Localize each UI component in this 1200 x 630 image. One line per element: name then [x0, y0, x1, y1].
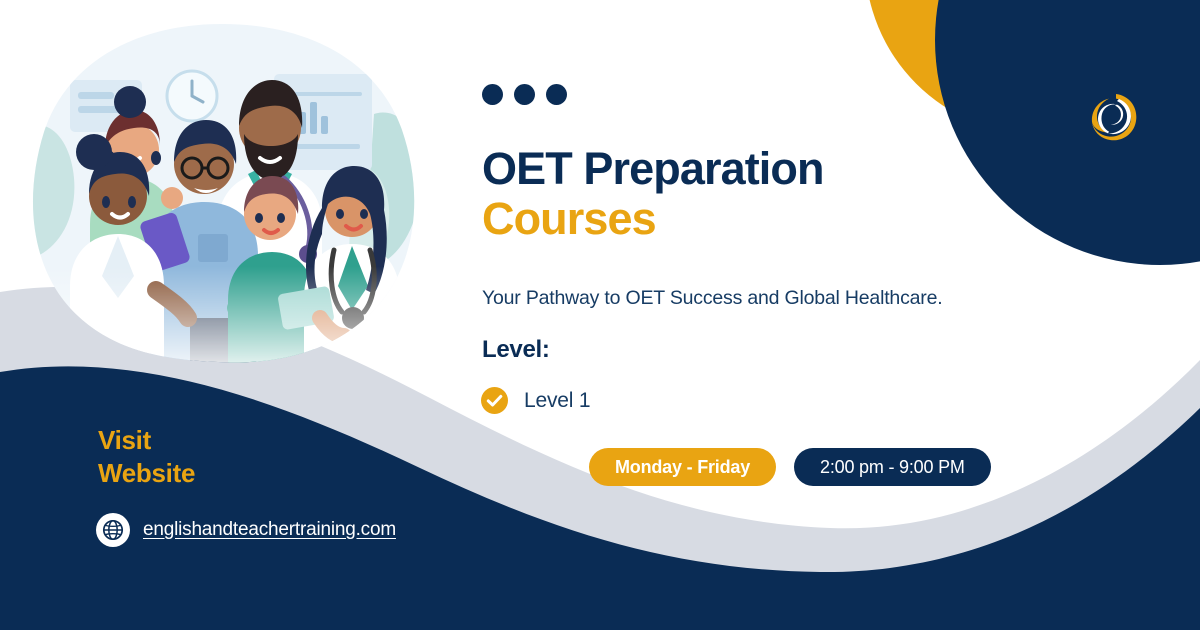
schedule-badges: Monday - Friday 2:00 pm - 9:00 PM: [589, 448, 991, 486]
page-title: OET Preparation Courses: [482, 144, 824, 245]
website-url[interactable]: englishandteachertraining.com: [143, 519, 396, 541]
website-link-row[interactable]: englishandteachertraining.com: [96, 513, 396, 547]
level-label: Level:: [482, 336, 550, 364]
dot-1: [482, 84, 503, 105]
level-item: Level 1: [481, 387, 590, 414]
dot-2: [514, 84, 535, 105]
cta-title-line-2: Website: [98, 458, 195, 488]
time-badge: 2:00 pm - 9:00 PM: [794, 448, 991, 486]
healthcare-team-illustration: [22, 18, 422, 363]
title-line-2: Courses: [482, 193, 656, 244]
cta-title: Visit Website: [98, 424, 195, 491]
check-circle-icon: [481, 387, 508, 414]
swirl-spiral-logo: [1086, 90, 1140, 144]
globe-icon: [96, 513, 130, 547]
three-dots-accent: [482, 84, 567, 105]
dot-3: [546, 84, 567, 105]
subtitle: Your Pathway to OET Success and Global H…: [482, 287, 942, 310]
poster-canvas: OET Preparation Courses Your Pathway to …: [0, 0, 1200, 630]
cta-title-line-1: Visit: [98, 425, 151, 455]
level-item-label: Level 1: [524, 389, 590, 413]
days-badge: Monday - Friday: [589, 448, 776, 486]
title-line-1: OET Preparation: [482, 143, 824, 194]
